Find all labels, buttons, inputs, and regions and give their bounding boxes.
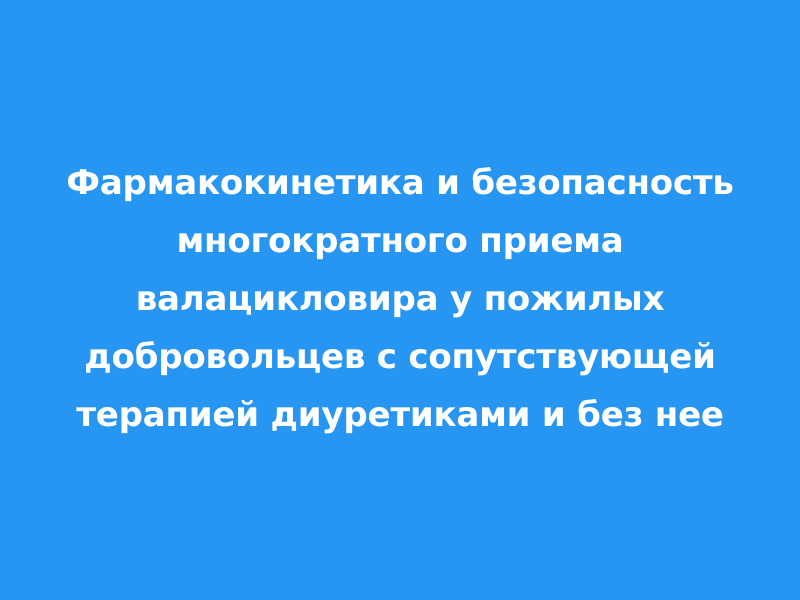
title-line-4: добровольцев с сопутствующей	[60, 328, 740, 386]
title-card: Фармакокинетика и безопасность многократ…	[0, 0, 800, 600]
page-title: Фармакокинетика и безопасность многократ…	[50, 154, 750, 444]
title-line-2: многократного приема	[60, 212, 740, 270]
title-line-1: Фармакокинетика и безопасность	[60, 154, 740, 212]
title-line-5: терапией диуретиками и без нее	[60, 386, 740, 444]
title-line-3: валацикловира у пожилых	[60, 270, 740, 328]
